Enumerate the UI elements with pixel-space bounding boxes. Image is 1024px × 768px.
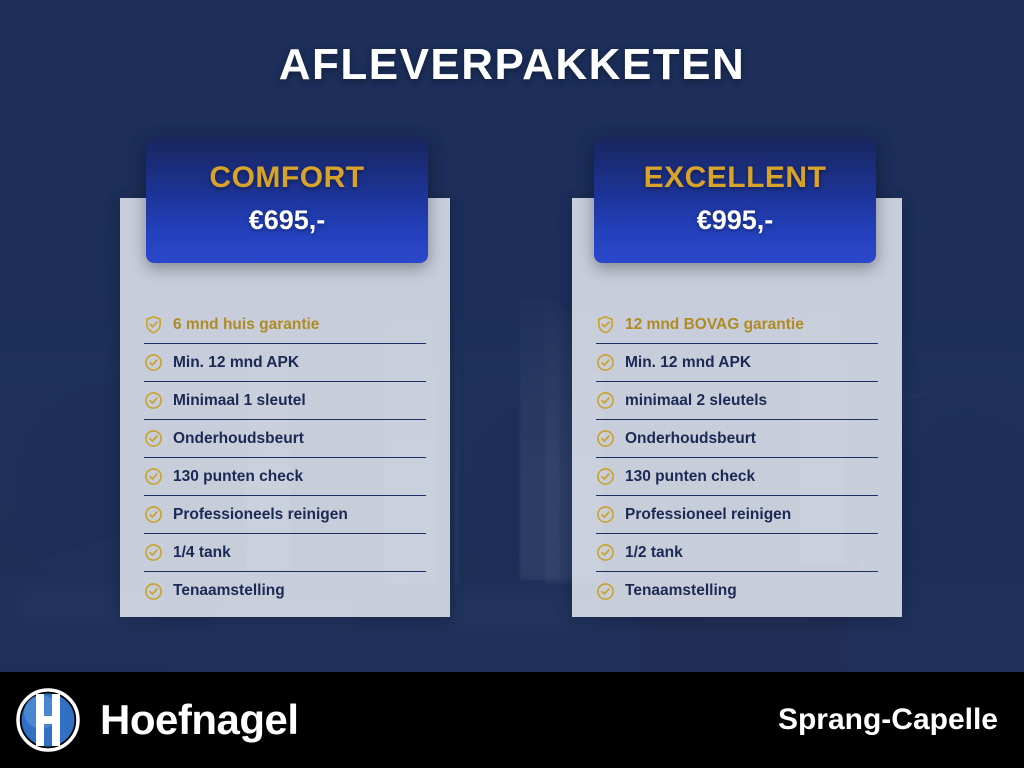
- feature-row: 6 mnd huis garantie: [144, 306, 426, 344]
- circle-check-icon: [144, 582, 163, 601]
- feature-label: Min. 12 mnd APK: [173, 354, 299, 372]
- feature-row: Tenaamstelling: [596, 572, 878, 610]
- feature-row: Professioneels reinigen: [144, 496, 426, 534]
- feature-label: Minimaal 1 sleutel: [173, 392, 306, 410]
- circle-check-icon: [144, 467, 163, 486]
- feature-label: 6 mnd huis garantie: [173, 316, 319, 334]
- package-card-header: COMFORT €695,-: [146, 137, 428, 263]
- circle-check-icon: [144, 353, 163, 372]
- circle-check-icon: [596, 543, 615, 562]
- circle-check-icon: [596, 429, 615, 448]
- feature-row: Min. 12 mnd APK: [144, 344, 426, 382]
- feature-row: 130 punten check: [596, 458, 878, 496]
- page-title: AFLEVERPAKKETEN: [0, 40, 1024, 90]
- circle-check-icon: [596, 391, 615, 410]
- feature-row: Min. 12 mnd APK: [596, 344, 878, 382]
- circle-check-icon: [596, 353, 615, 372]
- feature-label: Onderhoudsbeurt: [625, 430, 756, 448]
- circle-check-icon: [144, 429, 163, 448]
- feature-row: minimaal 2 sleutels: [596, 382, 878, 420]
- feature-label: minimaal 2 sleutels: [625, 392, 767, 410]
- feature-row: Minimaal 1 sleutel: [144, 382, 426, 420]
- package-price: €995,-: [594, 205, 876, 236]
- feature-label: Professioneels reinigen: [173, 506, 348, 524]
- feature-list: 6 mnd huis garantieMin. 12 mnd APKMinima…: [120, 306, 450, 610]
- feature-row: Onderhoudsbeurt: [144, 420, 426, 458]
- feature-row: 1/4 tank: [144, 534, 426, 572]
- feature-row: Professioneel reinigen: [596, 496, 878, 534]
- circle-check-icon: [144, 543, 163, 562]
- feature-label: 1/2 tank: [625, 544, 683, 562]
- feature-label: 130 punten check: [173, 468, 303, 486]
- circle-check-icon: [144, 391, 163, 410]
- feature-label: Tenaamstelling: [173, 582, 285, 600]
- feature-label: Min. 12 mnd APK: [625, 354, 751, 372]
- feature-row: 1/2 tank: [596, 534, 878, 572]
- package-name: EXCELLENT: [594, 161, 876, 195]
- feature-label: Onderhoudsbeurt: [173, 430, 304, 448]
- circle-check-icon: [596, 582, 615, 601]
- feature-row: Onderhoudsbeurt: [596, 420, 878, 458]
- feature-label: 130 punten check: [625, 468, 755, 486]
- hoefnagel-h-logo-icon: [14, 686, 82, 754]
- footer-bar: Hoefnagel Sprang-Capelle: [0, 672, 1024, 768]
- feature-label: 1/4 tank: [173, 544, 231, 562]
- circle-check-icon: [144, 505, 163, 524]
- feature-label: Tenaamstelling: [625, 582, 737, 600]
- feature-list: 12 mnd BOVAG garantieMin. 12 mnd APKmini…: [572, 306, 902, 610]
- circle-check-icon: [596, 467, 615, 486]
- feature-row: Tenaamstelling: [144, 572, 426, 610]
- slide-stage: AFLEVERPAKKETEN 6 mnd huis garantieMin. …: [0, 0, 1024, 768]
- brand-name: Hoefnagel: [100, 696, 299, 744]
- circle-check-icon: [596, 505, 615, 524]
- package-price: €695,-: [146, 205, 428, 236]
- shield-check-icon: [596, 315, 615, 334]
- feature-row: 12 mnd BOVAG garantie: [596, 306, 878, 344]
- feature-label: 12 mnd BOVAG garantie: [625, 316, 804, 334]
- dealer-location: Sprang-Capelle: [778, 703, 998, 737]
- shield-check-icon: [144, 315, 163, 334]
- package-name: COMFORT: [146, 161, 428, 195]
- feature-label: Professioneel reinigen: [625, 506, 791, 524]
- package-card-header: EXCELLENT €995,-: [594, 137, 876, 263]
- feature-row: 130 punten check: [144, 458, 426, 496]
